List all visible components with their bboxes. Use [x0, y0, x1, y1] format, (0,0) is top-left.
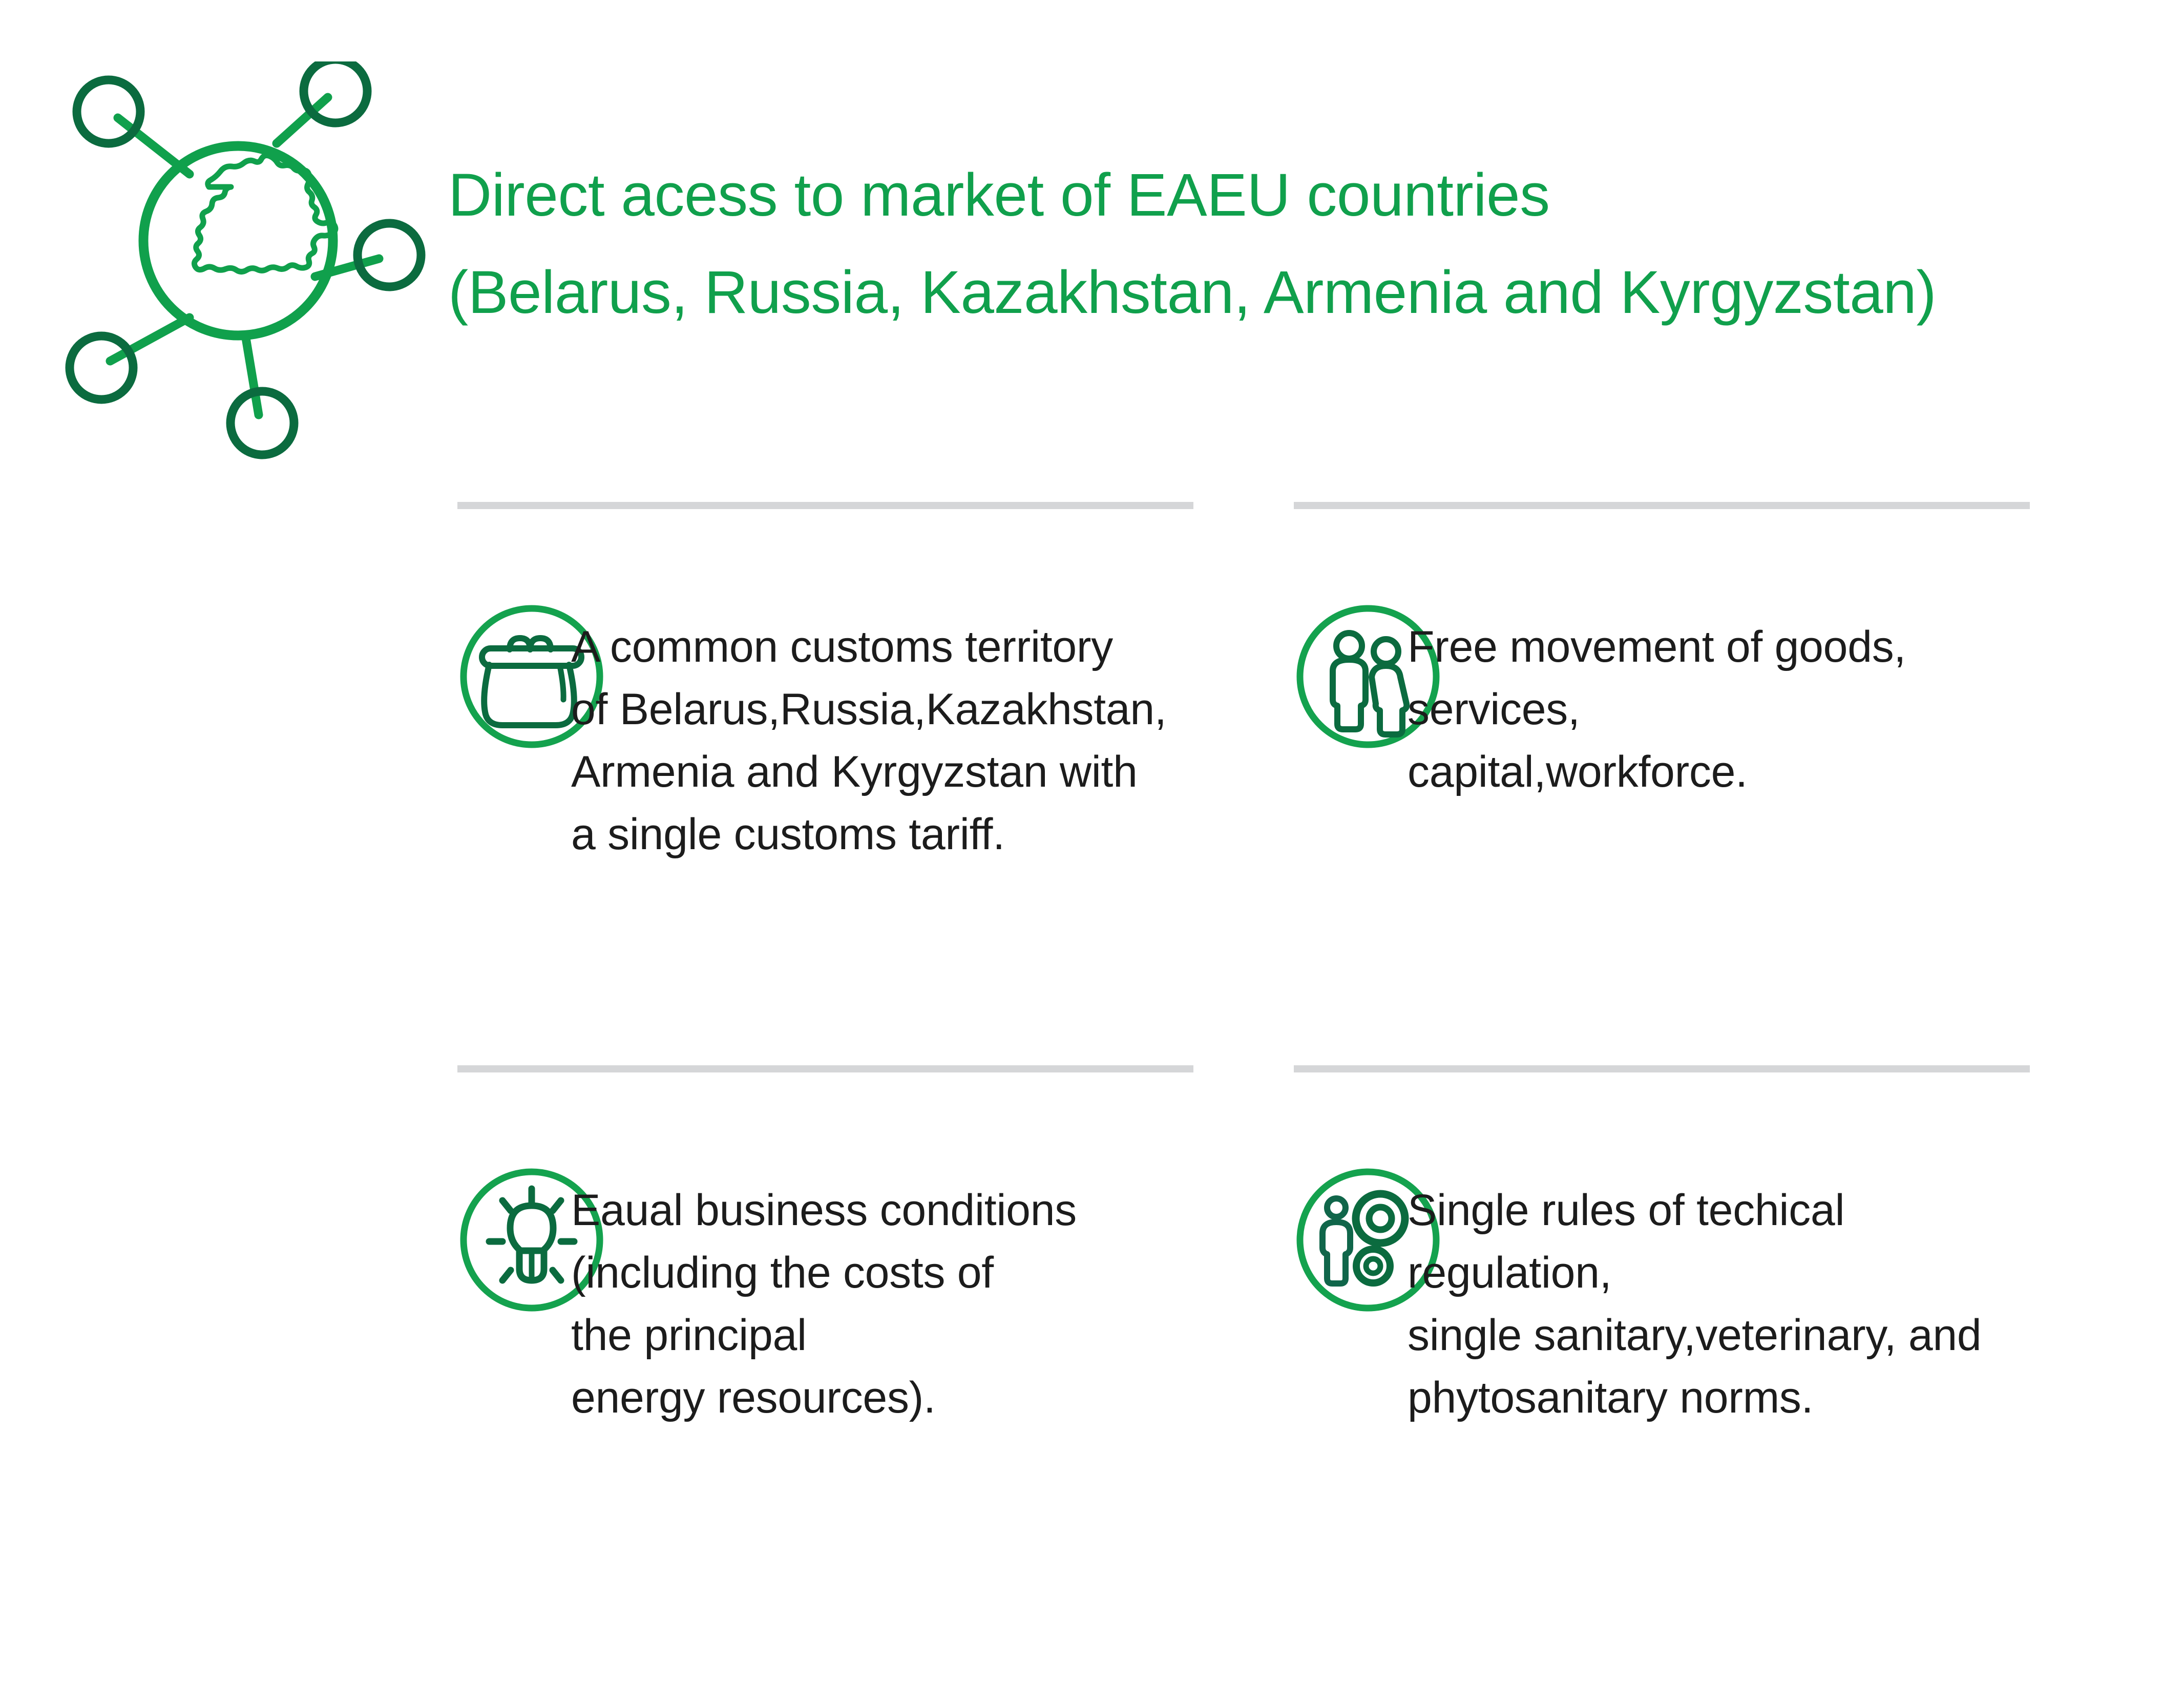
- card-text: Free movement of goods, services, capita…: [1408, 602, 1906, 803]
- title-line-2: (Belarus, Russia, Kazakhstan, Armenia an…: [448, 244, 2113, 341]
- page-title: Direct acess to market of EAEU countries…: [448, 146, 2113, 341]
- belarus-network-globe-icon: [61, 61, 440, 471]
- card-text-line: energy resources).: [571, 1366, 1077, 1429]
- card-divider: [1294, 502, 2030, 509]
- card-text-line: regulation,: [1408, 1241, 1981, 1304]
- card-body: A common customs territory of Belarus,Ru…: [457, 602, 1166, 866]
- card-text-line: Free movement of goods,: [1408, 616, 1906, 678]
- card-divider: [1294, 1065, 2030, 1072]
- card-text-line: Eaual business conditions: [571, 1179, 1077, 1241]
- card-divider: [457, 502, 1193, 509]
- card-text-line: capital,workforce.: [1408, 741, 1906, 803]
- card-text-line: the principal: [571, 1304, 1077, 1366]
- card-text-line: of Belarus,Russia,Kazakhstan,: [571, 678, 1166, 741]
- card-text-line: Armenia and Kyrgyzstan with: [571, 741, 1166, 803]
- card-divider: [457, 1065, 1193, 1072]
- header: Direct acess to market of EAEU countries…: [0, 0, 2184, 502]
- card-body: Eaual business conditions (including the…: [457, 1166, 1077, 1429]
- benefits-grid: A common customs territory of Belarus,Ru…: [0, 502, 2184, 1301]
- card-text-line: Single rules of techical: [1408, 1179, 1981, 1241]
- card-text: Eaual business conditions (including the…: [571, 1166, 1077, 1429]
- card-text-line: (including the costs of: [571, 1241, 1077, 1304]
- card-text-line: phytosanitary norms.: [1408, 1366, 1981, 1429]
- card-text-line: a single customs tariff.: [571, 803, 1166, 866]
- card-text-line: A common customs territory: [571, 616, 1166, 678]
- card-text-line: single sanitary,veterinary, and: [1408, 1304, 1981, 1366]
- title-line-1: Direct acess to market of EAEU countries: [448, 146, 2113, 244]
- card-text: A common customs territory of Belarus,Ru…: [571, 602, 1166, 866]
- card-text-line: services,: [1408, 678, 1906, 741]
- card-text: Single rules of techical regulation, sin…: [1408, 1166, 1981, 1429]
- card-body: Free movement of goods, services, capita…: [1294, 602, 1906, 803]
- card-body: Single rules of techical regulation, sin…: [1294, 1166, 1981, 1429]
